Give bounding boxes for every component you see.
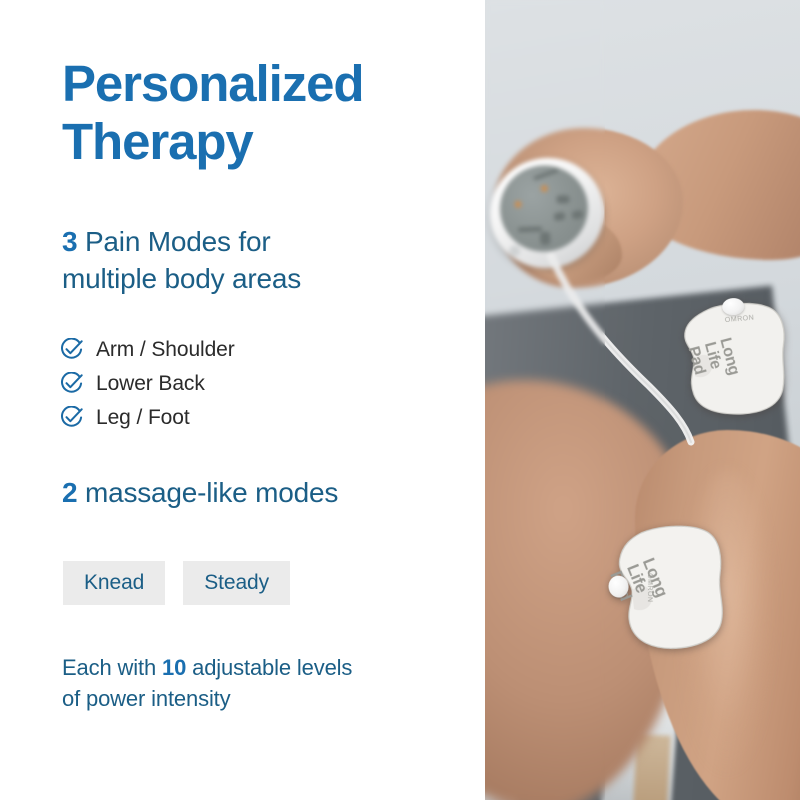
list-item: Arm / Shoulder — [60, 334, 440, 365]
controller-button — [553, 211, 565, 221]
photo-stage: Long Life Pad OMRON Long Life Pad OM — [485, 0, 800, 800]
product-feature-graphic: Personalized Therapy 3 Pain Modes for mu… — [0, 0, 800, 800]
product-photo: Long Life Pad OMRON Long Life Pad OM — [485, 0, 800, 800]
check-circle-icon — [60, 406, 83, 429]
intensity-footnote-line-1: Each with 10 adjustable levels — [62, 652, 462, 683]
text-panel: Personalized Therapy 3 Pain Modes for mu… — [0, 0, 485, 800]
pad-brand-label: OMRON — [646, 573, 653, 602]
controller-indicator-dot — [540, 184, 548, 192]
list-item-label: Lower Back — [96, 373, 205, 394]
massage-mode-chips: Knead Steady — [63, 561, 290, 605]
pain-modes-count: 3 — [62, 226, 77, 257]
intensity-footnote-prefix: Each with — [62, 655, 162, 680]
list-item: Leg / Foot — [60, 402, 440, 433]
page-title: Personalized Therapy — [62, 55, 462, 171]
electrode-pad-lower: Long Life Pad OMRON — [607, 518, 738, 658]
controller-button — [557, 195, 570, 203]
headline-line-1: Personalized — [62, 55, 462, 113]
massage-modes-subheading: 2 massage-like modes — [62, 476, 482, 510]
intensity-levels-count: 10 — [162, 655, 186, 680]
pain-modes-subheading: 3 Pain Modes for multiple body areas — [62, 224, 462, 298]
list-item: Lower Back — [60, 368, 440, 399]
check-circle-icon — [60, 338, 83, 361]
massage-modes-count: 2 — [62, 477, 77, 508]
headline-line-2: Therapy — [62, 113, 462, 171]
pain-modes-subheading-text: Pain Modes for — [77, 226, 270, 257]
chip-knead[interactable]: Knead — [63, 561, 165, 605]
controller-button — [540, 232, 550, 245]
check-circle-icon — [60, 372, 83, 395]
controller-label-mark — [533, 168, 559, 181]
list-item-label: Leg / Foot — [96, 407, 190, 428]
pain-modes-subheading-line-2: multiple body areas — [62, 261, 462, 298]
list-item-label: Arm / Shoulder — [96, 339, 235, 360]
controller-button — [571, 210, 583, 220]
intensity-footnote: Each with 10 adjustable levels of power … — [62, 652, 462, 714]
electrode-pad-upper: Long Life Pad OMRON — [678, 297, 796, 421]
pain-modes-subheading-line-1: 3 Pain Modes for — [62, 224, 462, 261]
controller-label-mark — [518, 226, 542, 232]
controller-indicator-dot — [514, 200, 522, 208]
intensity-footnote-line-2: of power intensity — [62, 683, 462, 714]
chip-steady[interactable]: Steady — [183, 561, 290, 605]
pain-modes-list: Arm / Shoulder Lower Back Leg / Foot — [60, 334, 440, 436]
intensity-footnote-suffix: adjustable levels — [186, 655, 352, 680]
massage-modes-subheading-text: massage-like modes — [77, 477, 338, 508]
